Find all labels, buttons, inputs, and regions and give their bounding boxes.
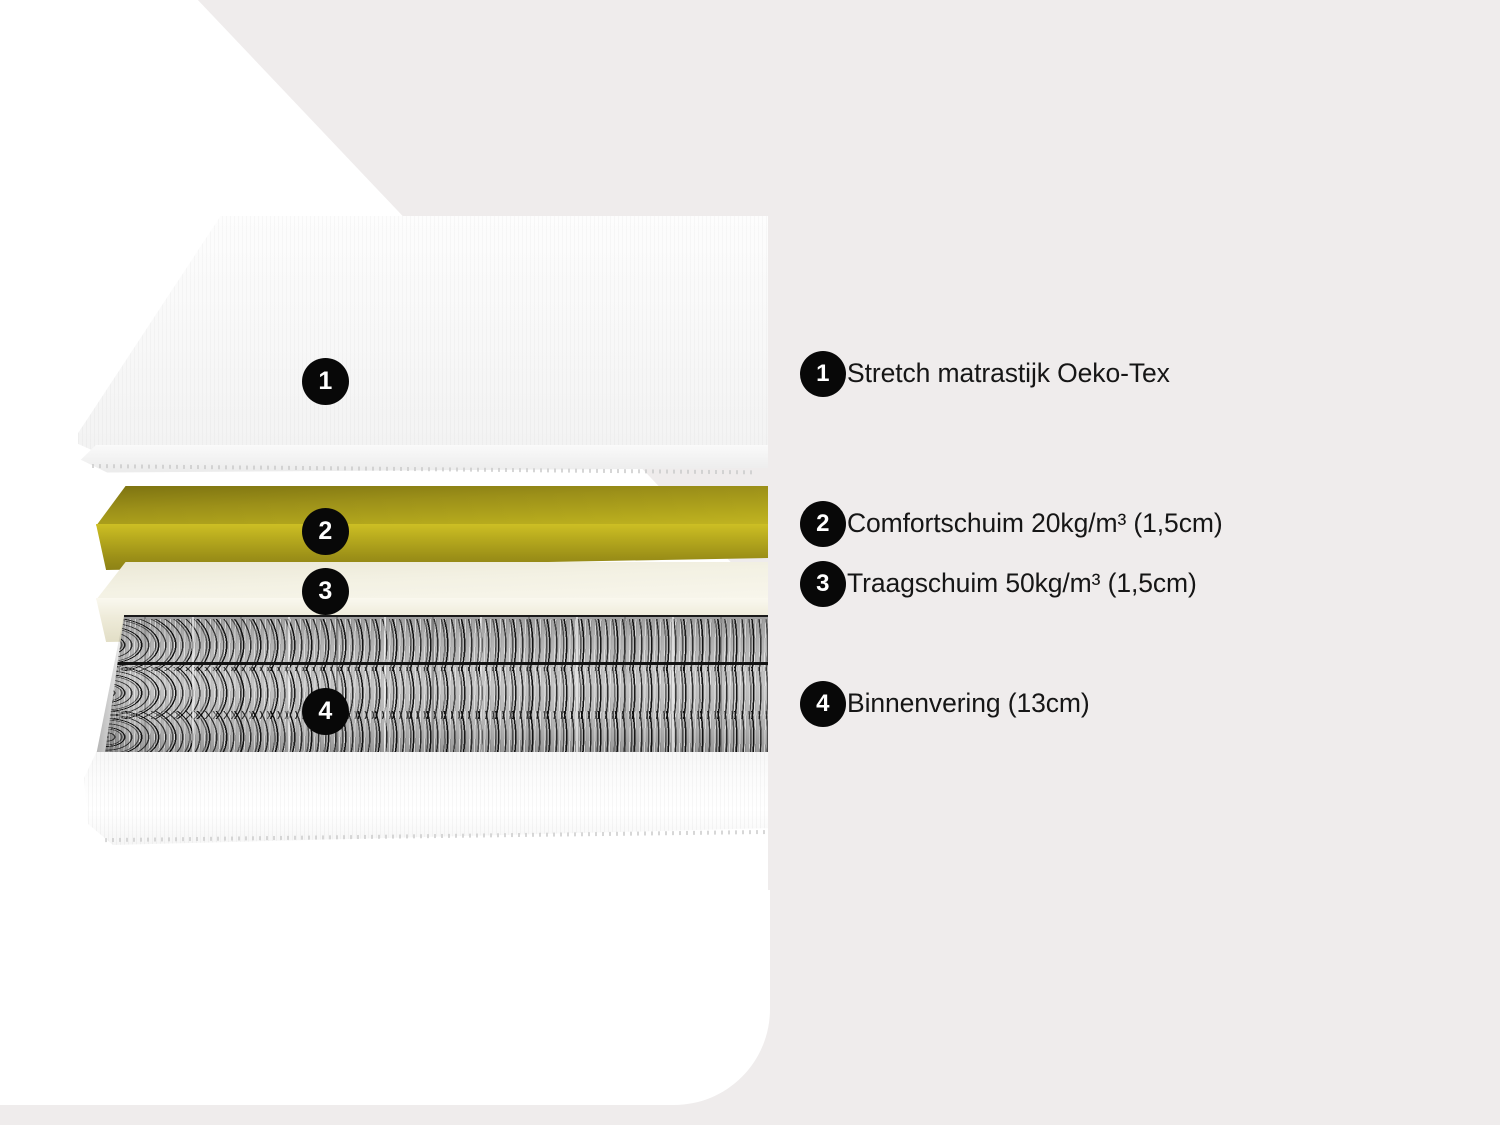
layer-1-stretch-cover bbox=[78, 216, 770, 481]
legend-item-2: 2 Comfortschuim 20kg/m³ (1,5cm) bbox=[800, 508, 1223, 539]
layer-2-comfort-foam bbox=[96, 486, 768, 570]
legend-badge-1: 1 bbox=[800, 351, 846, 397]
layer-2-top-face bbox=[96, 486, 768, 526]
illustration-badge-1: 1 bbox=[302, 358, 349, 405]
legend-label-1: Stretch matrastijk Oeko-Tex bbox=[847, 358, 1170, 389]
illustration-badge-2: 2 bbox=[302, 508, 349, 555]
legend-badge-2: 2 bbox=[800, 501, 846, 547]
legend-label-2: Comfortschuim 20kg/m³ (1,5cm) bbox=[847, 508, 1223, 539]
layer-1-weave-texture bbox=[78, 216, 770, 481]
layer-3-top-face bbox=[96, 562, 768, 600]
illustration-badge-4: 4 bbox=[302, 688, 349, 735]
spring-column-dividers bbox=[96, 615, 768, 760]
layer-5-base-cover bbox=[84, 752, 774, 852]
legend-item-4: 4 Binnenvering (13cm) bbox=[800, 688, 1090, 719]
mattress-layer-infographic: 1 2 3 4 1 Stretch matrastijk Oeko-Tex 2 … bbox=[0, 0, 1500, 1125]
layer-legend: 1 Stretch matrastijk Oeko-Tex 2 Comforts… bbox=[800, 0, 1500, 1125]
legend-badge-4: 4 bbox=[800, 681, 846, 727]
spring-wire-line bbox=[96, 662, 768, 665]
legend-item-3: 3 Traagschuim 50kg/m³ (1,5cm) bbox=[800, 568, 1197, 599]
legend-badge-3: 3 bbox=[800, 561, 846, 607]
mattress-illustration: 1 2 3 4 bbox=[0, 0, 820, 880]
layer-4-top-frame-wire bbox=[124, 615, 768, 617]
layer-4-innerspring-core bbox=[96, 615, 768, 760]
legend-item-1: 1 Stretch matrastijk Oeko-Tex bbox=[800, 358, 1170, 389]
layer-4-left-shadow bbox=[96, 615, 130, 760]
legend-label-4: Binnenvering (13cm) bbox=[847, 688, 1090, 719]
legend-label-3: Traagschuim 50kg/m³ (1,5cm) bbox=[847, 568, 1197, 599]
layer-4-spring-body bbox=[96, 615, 768, 760]
illustration-badge-3: 3 bbox=[302, 568, 349, 615]
